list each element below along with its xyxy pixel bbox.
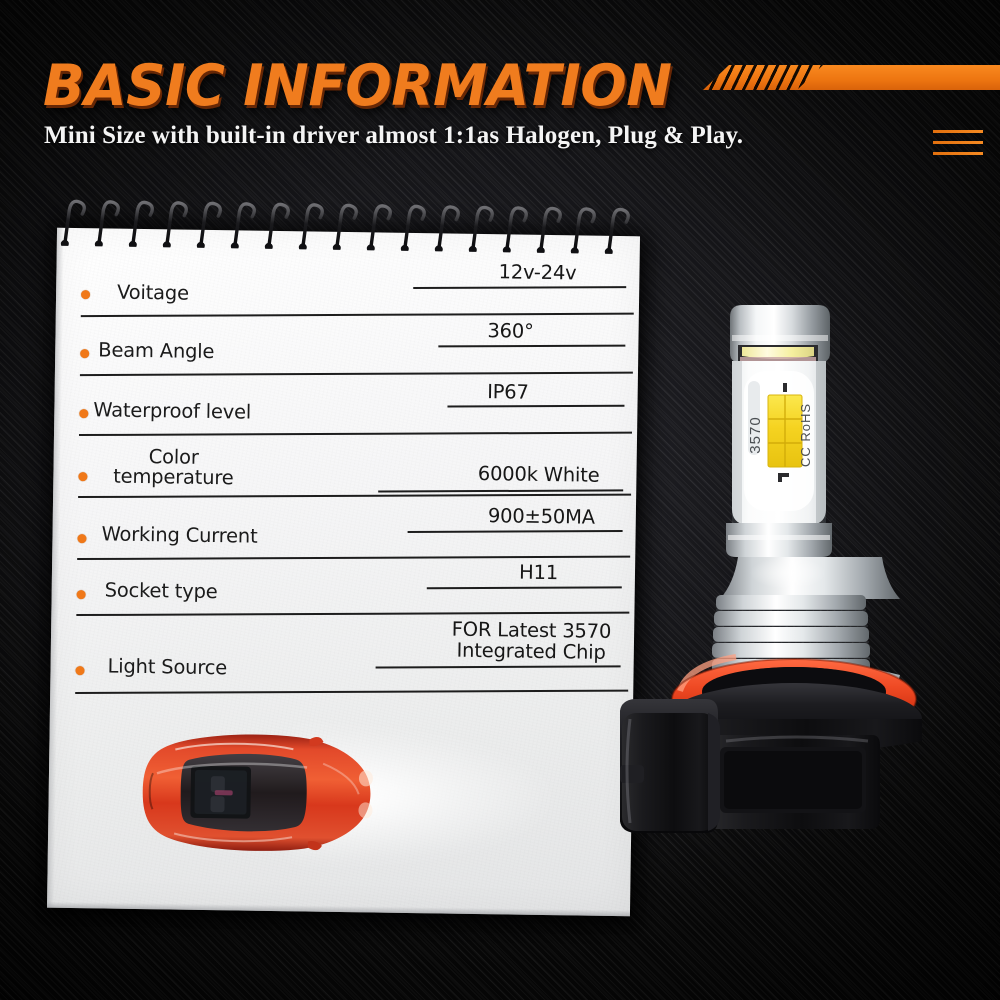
table-row: Voitage 12v-24v [81,270,627,336]
spec-value: IP67 [487,382,529,403]
bullet-icon [75,666,84,675]
spec-label: Voitage [117,283,189,304]
spec-label: Light Source [107,657,227,679]
bullet-icon [78,472,87,481]
car-top-view-image [126,711,378,875]
value-underline [447,405,624,407]
table-row: Light Source FOR Latest 3570 Integrated … [75,622,621,692]
row-divider [81,313,634,317]
value-underline [378,489,623,492]
triple-line-decoration-icon [933,130,983,160]
value-underline [438,345,625,348]
bullet-icon [81,290,90,299]
spec-label: Socket type [105,580,218,602]
row-divider [76,612,629,616]
led-bulb-product-image: 3570 CC RoHS [620,295,1000,895]
bullet-icon [77,534,86,543]
spec-value: FOR Latest 3570 Integrated Chip [451,620,611,664]
row-divider [80,372,633,376]
spec-label: Waterproof level [93,400,251,422]
table-row: Waterproof level IP67 [79,386,625,452]
value-underline [427,586,622,589]
chip-model-label: 3570 [747,416,764,453]
value-underline [413,286,626,289]
spec-label: Color temperature [98,446,249,488]
row-divider [78,494,631,498]
spec-label: Beam Angle [98,340,214,362]
bullet-icon [80,349,89,358]
bullet-icon [79,409,88,418]
bullet-icon [77,590,86,599]
page-title: BASIC INFORMATION [43,53,672,119]
row-divider [79,432,632,436]
spiral-binding-icon [57,194,641,255]
page-subtitle: Mini Size with built-in driver almost 1:… [44,122,743,150]
spec-value: 360° [487,321,533,342]
spec-value: 12v-24v [498,262,576,284]
spec-value: 900±50MA [488,506,595,528]
spec-value: 6000k White [478,464,600,486]
value-underline [376,665,621,668]
certification-label: CC RoHS [798,403,813,467]
value-underline [408,530,623,533]
spec-label: Working Current [101,524,257,546]
row-divider [77,556,630,560]
spec-notepad: Voitage 12v-24v Beam Angle 360° Waterpro… [47,228,640,917]
infographic-page: BASIC INFORMATION Mini Size with built-i… [0,0,1000,1000]
spec-value: H11 [519,563,558,584]
car-illustration-area [65,698,628,896]
spec-table: Voitage 12v-24v Beam Angle 360° Waterpro… [75,270,626,692]
table-row: Beam Angle 360° [80,328,626,394]
table-row: Color temperature 6000k White [78,444,624,514]
